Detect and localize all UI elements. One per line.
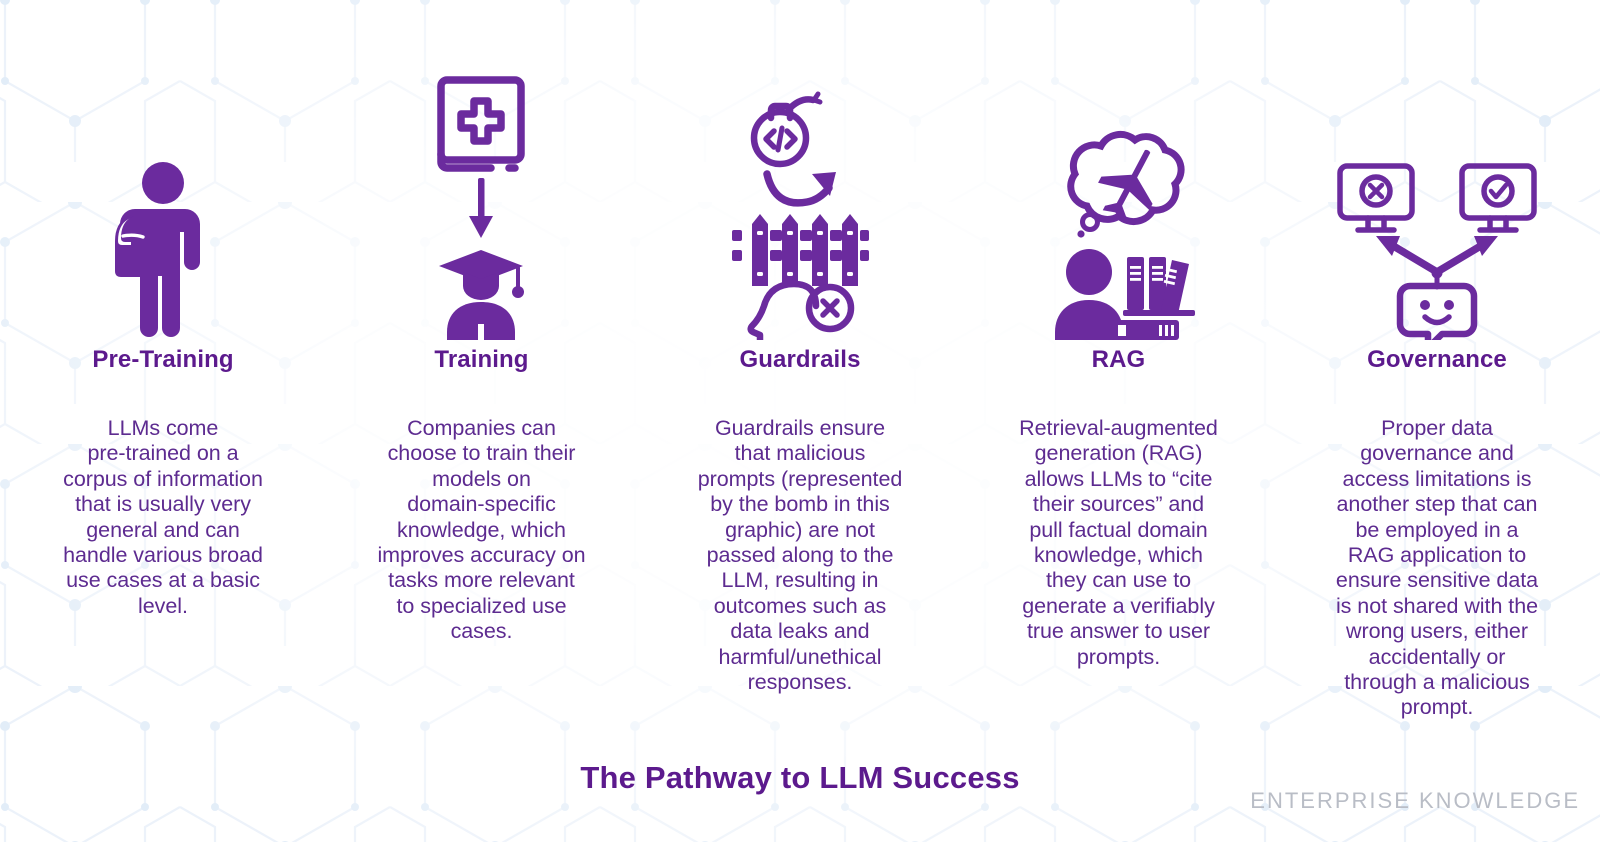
icon-group-guardrails (651, 0, 949, 346)
column-governance: Governance Proper data governance and ac… (1288, 0, 1586, 721)
code-bomb-icon (754, 94, 820, 164)
column-body: Guardrails ensure that malicious prompts… (651, 416, 949, 695)
column-body: Proper data governance and access limita… (1288, 416, 1586, 721)
person-with-bookshelf-icon (1055, 249, 1195, 340)
column-rag: RAG Retrieval-augmented generation (RAG)… (970, 0, 1268, 670)
column-title: Governance (1367, 346, 1507, 380)
column-title: Pre-Training (92, 346, 233, 380)
rag-icon-stack (1039, 130, 1199, 340)
monitor-denied-icon (1340, 166, 1412, 230)
chatbot-icon (1400, 268, 1474, 341)
column-title: RAG (1092, 346, 1146, 380)
icon-group-governance (1288, 0, 1586, 346)
fence-icon (732, 214, 869, 286)
training-icon-stack (417, 70, 547, 340)
graduate-icon (439, 250, 524, 340)
column-title: Guardrails (739, 346, 860, 380)
monitor-approved-icon (1462, 166, 1534, 230)
column-title: Training (434, 346, 528, 380)
icon-group-training (333, 0, 631, 346)
column-body: Companies can choose to train their mode… (333, 416, 631, 645)
icon-group-pre-training (14, 0, 312, 346)
column-pre-training: Pre-Training LLMs come pre-trained on a … (14, 0, 312, 619)
column-body: Retrieval-augmented generation (RAG) all… (970, 416, 1268, 670)
column-training: Training Companies can choose to train t… (333, 0, 631, 645)
icon-group-rag (970, 0, 1268, 346)
pathway-columns: Pre-Training LLMs come pre-trained on a … (0, 0, 1600, 721)
branching-arrows-icon (1376, 236, 1498, 272)
infographic-canvas: Pre-Training LLMs come pre-trained on a … (0, 0, 1600, 842)
column-guardrails: Guardrails Guardrails ensure that malici… (651, 0, 949, 695)
governance-icon-stack (1332, 160, 1542, 340)
curved-arrow-icon (767, 172, 836, 203)
down-arrow-icon (469, 178, 493, 238)
thought-bubble-airplane-icon (1070, 134, 1180, 237)
person-with-backpack-icon (103, 160, 223, 340)
head-with-x-icon (751, 284, 851, 340)
guardrails-icon-stack (730, 90, 870, 340)
medical-textbook-icon (441, 80, 521, 168)
column-body: LLMs come pre-trained on a corpus of inf… (14, 416, 312, 619)
brand-wordmark: ENTERPRISE KNOWLEDGE (1250, 788, 1580, 814)
